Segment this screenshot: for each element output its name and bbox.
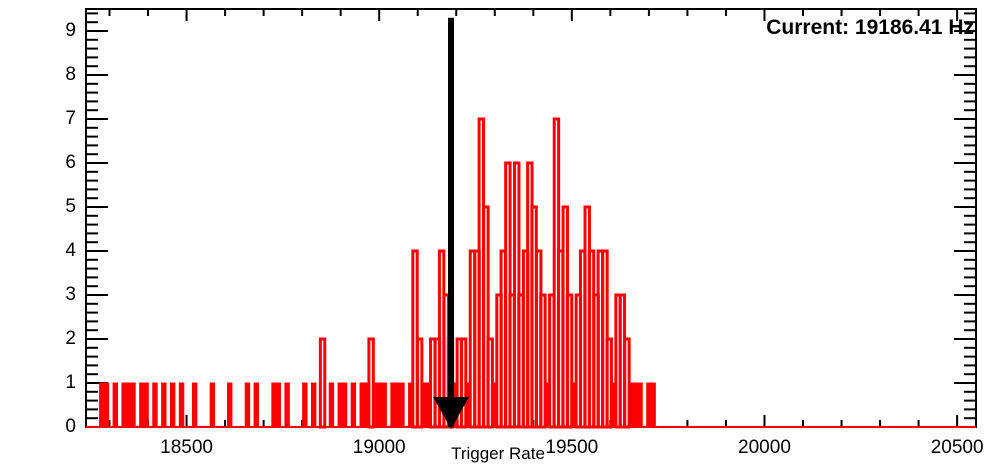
y-tick-label: 5: [40, 196, 76, 218]
y-tick-label: 9: [40, 20, 76, 42]
y-tick-label: 6: [40, 152, 76, 174]
y-tick-label: 7: [40, 108, 76, 130]
histogram-plot: [0, 0, 996, 472]
x-axis-title: Trigger Rate: [0, 444, 996, 464]
y-tick-label: 8: [40, 64, 76, 86]
y-tick-label: 3: [40, 284, 76, 306]
histogram-series: [86, 119, 976, 427]
y-tick-label: 2: [40, 328, 76, 350]
chart-canvas: 0123456789 1850019000195002000020500 Tri…: [0, 0, 996, 472]
y-tick-label: 0: [40, 416, 76, 438]
y-tick-label: 4: [40, 240, 76, 262]
y-tick-label: 1: [40, 372, 76, 394]
current-rate-readout: Current: 19186.41 Hz: [766, 16, 974, 40]
